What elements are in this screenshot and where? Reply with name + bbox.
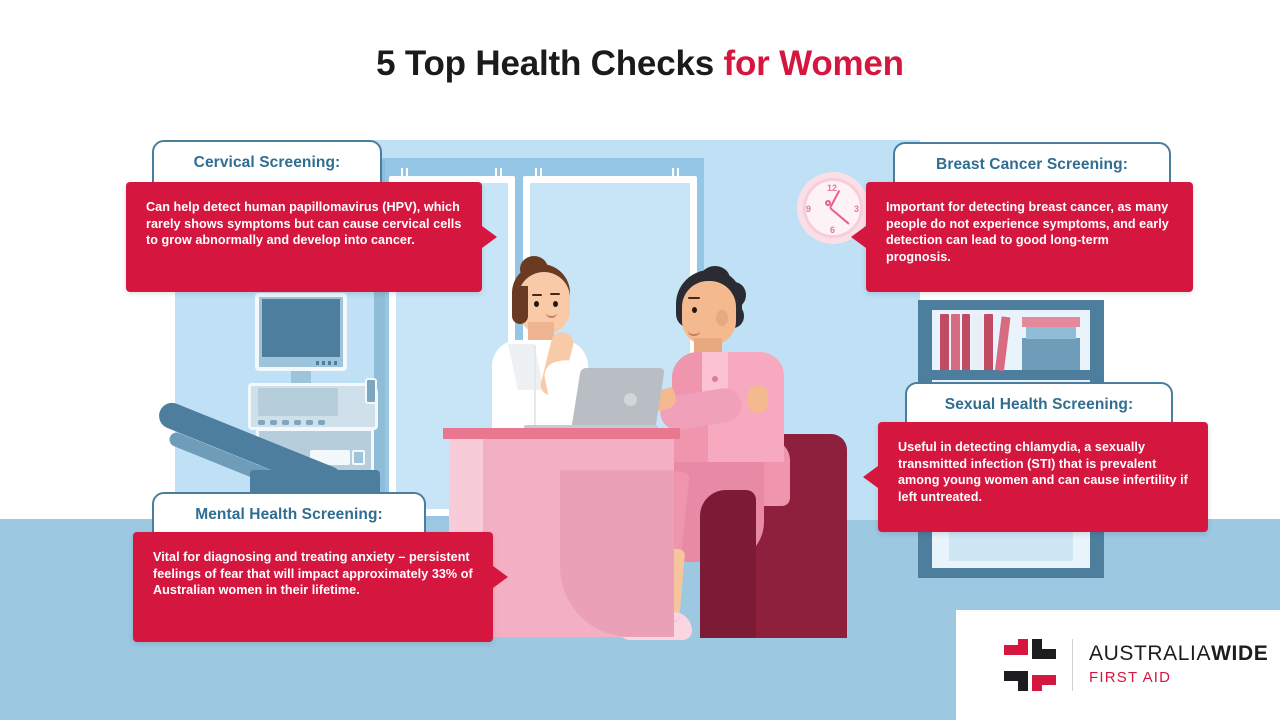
callout-sexual-health[interactable]: Useful in detecting chlamydia, a sexuall… <box>878 422 1208 532</box>
clock-number: 9 <box>806 204 811 214</box>
header-title-sexual-health: Sexual Health Screening: <box>945 396 1133 414</box>
ultrasound-keypad <box>258 420 364 426</box>
doctor-hair-side <box>512 286 528 324</box>
callout-mental-health[interactable]: Vital for diagnosing and treating anxiet… <box>133 532 493 642</box>
callout-text-sexual-health: Useful in detecting chlamydia, a sexuall… <box>878 422 1208 521</box>
shelf-board-mid <box>918 370 1104 380</box>
callout-text-breast-cancer: Important for detecting breast cancer, a… <box>866 182 1193 281</box>
desk-surface <box>443 428 680 439</box>
ultrasound-indicator-lights <box>316 361 340 365</box>
doctor-eye <box>534 301 539 307</box>
callout-text-cervical: Can help detect human papillomavirus (HP… <box>126 182 482 265</box>
page-title: 5 Top Health Checks for Women <box>0 44 1280 84</box>
storage-box-mid <box>1026 326 1076 339</box>
callout-pointer-sexual-health <box>863 466 878 488</box>
callout-breast-cancer[interactable]: Important for detecting breast cancer, a… <box>866 182 1193 292</box>
curtain-hook-icon <box>672 168 679 181</box>
logo-brand-thin: AUSTRALIA <box>1089 642 1211 665</box>
shelf-board-bottom <box>918 568 1104 578</box>
doctor-eye <box>553 301 558 307</box>
book <box>940 314 949 370</box>
patient-eyebrow <box>688 297 700 299</box>
ultrasound-power-button <box>352 450 365 465</box>
callout-pointer-mental-health <box>493 566 508 588</box>
doctor-coat-seam <box>534 345 536 429</box>
shelf-board-top <box>918 300 1104 310</box>
header-title-breast-cancer: Breast Cancer Screening: <box>936 156 1128 174</box>
page-title-accent: for Women <box>724 44 904 83</box>
curtain-hook-icon <box>401 168 408 181</box>
doctor-eyebrow <box>550 293 560 295</box>
header-title-mental-health: Mental Health Screening: <box>195 506 383 524</box>
book <box>962 314 970 370</box>
patient-ear <box>716 310 728 326</box>
infographic-canvas: 12 3 6 9 <box>0 0 1280 720</box>
storage-box-lid <box>1022 317 1080 327</box>
logo-brand-line: AUSTRALIAWIDE <box>1089 642 1268 666</box>
laptop-logo-icon <box>624 393 637 406</box>
book <box>951 314 960 370</box>
clock-number: 12 <box>827 183 837 193</box>
logo-divider <box>1072 639 1073 691</box>
ultrasound-screen <box>262 299 340 357</box>
desk-shadow <box>560 470 674 637</box>
clock-number: 3 <box>854 204 859 214</box>
logo-brand-bold: WIDE <box>1211 642 1268 665</box>
curtain-hook-icon <box>535 168 542 181</box>
clock-number: 6 <box>830 225 835 235</box>
logo-tagline: FIRST AID <box>1089 668 1268 688</box>
page-title-main: 5 Top Health Checks <box>376 44 714 83</box>
doctor-eyebrow <box>532 294 542 296</box>
patient-blouse-button <box>712 376 718 382</box>
book <box>984 314 993 370</box>
ultrasound-panel-display <box>258 388 338 416</box>
patient-hand-right <box>748 385 768 413</box>
logo-plate: AUSTRALIAWIDE FIRST AID <box>956 610 1280 720</box>
storage-box-bottom <box>1022 338 1080 370</box>
patient-eye <box>692 307 697 313</box>
laptop-screen <box>571 368 665 430</box>
logo-wordmark: AUSTRALIAWIDE FIRST AID <box>1089 642 1268 688</box>
header-title-cervical: Cervical Screening: <box>194 154 341 172</box>
curtain-hook-icon <box>495 168 502 181</box>
australia-wide-logo-icon <box>1004 639 1056 691</box>
callout-pointer-breast-cancer <box>851 226 866 248</box>
clock-center-dot <box>825 200 831 206</box>
ultrasound-probe <box>365 378 377 404</box>
book <box>972 314 982 370</box>
callout-pointer-cervical <box>482 226 497 248</box>
callout-cervical[interactable]: Can help detect human papillomavirus (HP… <box>126 182 482 292</box>
callout-text-mental-health: Vital for diagnosing and treating anxiet… <box>133 532 493 615</box>
armchair-armrest <box>700 490 756 638</box>
